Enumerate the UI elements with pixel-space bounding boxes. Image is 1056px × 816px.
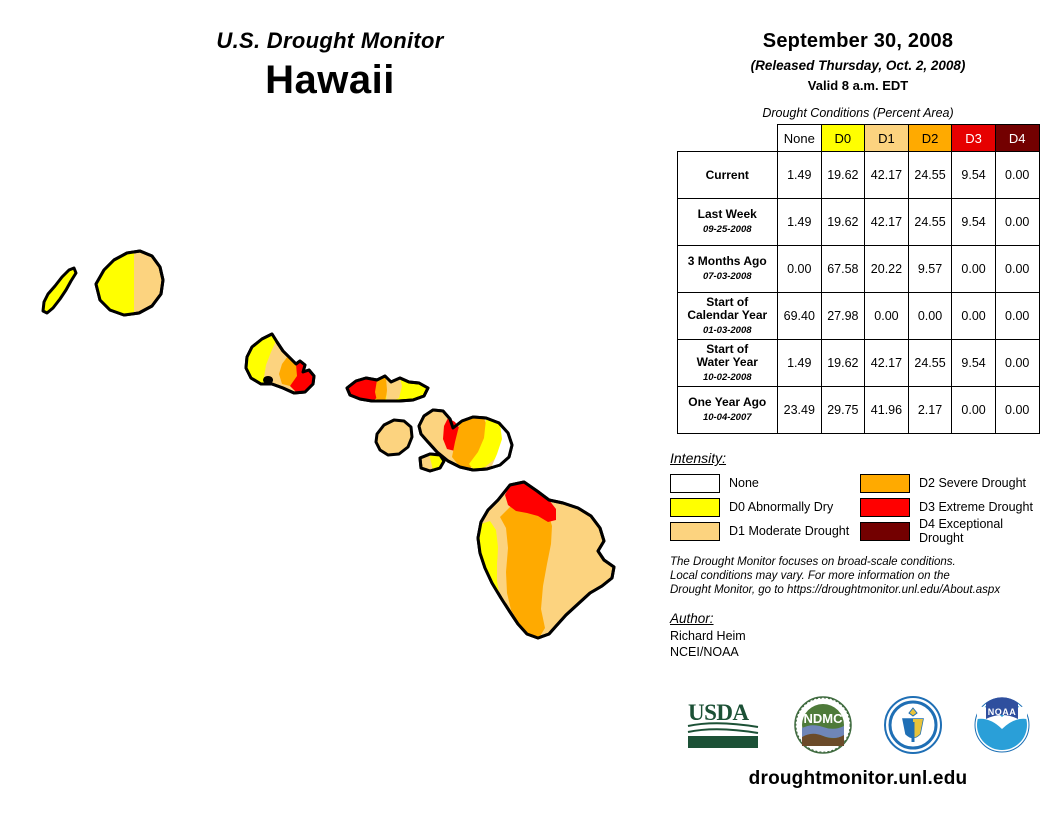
table-row: 3 Months Ago07-03-20080.0067.5820.229.57… [677,246,1039,293]
row-label-date: 09-25-2008 [678,223,778,236]
legend-item-d4: D4 Exceptional Drought [860,517,1050,545]
legend-label: D0 Abnormally Dry [729,500,833,514]
island-niihau [43,268,76,313]
logo-strip: USDA NDMC [660,690,1056,760]
map-panel: U.S. Drought Monitor Hawaii [0,0,660,816]
ndmc-logo: NDMC [794,696,852,754]
note-line-1: The Drought Monitor focuses on broad-sca… [670,555,1056,569]
legend-swatch-d1 [670,522,720,541]
table-caption: Drought Conditions (Percent Area) [660,106,1056,120]
legend-item-none: None [670,474,860,493]
legend-label: D1 Moderate Drought [729,524,849,538]
usda-logo: USDA [686,699,762,751]
table-col-header-d3: D3 [952,125,996,152]
island-oahu [246,334,314,393]
row-label-date: 10-02-2008 [678,371,778,384]
title-block: U.S. Drought Monitor Hawaii [0,28,660,103]
table-cell-d1: 20.22 [865,246,909,293]
note-line-3: Drought Monitor, go to https://droughtmo… [670,583,1056,597]
lanai-d1-area [376,420,412,455]
legend-label: None [729,476,759,490]
usda-bar [688,736,758,748]
row-label-date: 07-03-2008 [678,270,778,283]
table-row-label: One Year Ago10-04-2007 [677,387,778,434]
ndmc-wordmark: NDMC [804,711,844,726]
author-name: Richard Heim [670,628,1056,644]
author-affiliation: NCEI/NOAA [670,644,1056,660]
drought-conditions-table: NoneD0D1D2D3D4 Current1.4919.6242.1724.5… [677,124,1040,434]
niihau-d0-area [43,268,76,313]
table-cell-d3: 9.54 [952,152,996,199]
table-col-header-d0: D0 [821,125,865,152]
site-url: droughtmonitor.unl.edu [660,768,1056,790]
table-cell-d1: 42.17 [865,152,909,199]
molokai-d3-area [347,378,379,401]
legend-label: D4 Exceptional Drought [919,517,1050,545]
release-date: (Released Thursday, Oct. 2, 2008) [660,58,1056,73]
table-header-row: NoneD0D1D2D3D4 [677,125,1039,152]
table-cell-d4: 0.00 [995,340,1039,387]
island-hawaii-big [478,482,614,638]
table-cell-none: 23.49 [778,387,822,434]
table-col-header-d1: D1 [865,125,909,152]
row-label-date: 01-03-2008 [678,324,778,337]
usda-wordmark: USDA [688,700,750,725]
table-row: Start ofWater Year10-02-20081.4919.6242.… [677,340,1039,387]
date-block: September 30, 2008 (Released Thursday, O… [660,0,1056,93]
table-col-header-none: None [778,125,822,152]
table-row-label: Start ofCalendar Year01-03-2008 [677,293,778,340]
table-cell-none: 69.40 [778,293,822,340]
table-corner-cell [677,125,778,152]
table-row: Start ofCalendar Year01-03-200869.4027.9… [677,293,1039,340]
noaa-wordmark: NOAA [988,707,1017,717]
kauai-d0-area [96,252,134,315]
table-cell-d0: 19.62 [821,152,865,199]
island-molokai [347,376,428,401]
legend-item-d0: D0 Abnormally Dry [670,498,860,517]
row-label-text: Current [706,168,749,182]
table-row-label: Current [677,152,778,199]
legend-item-d1: D1 Moderate Drought [670,522,860,541]
table-row: Current1.4919.6242.1724.559.540.00 [677,152,1039,199]
right-panel: September 30, 2008 (Released Thursday, O… [660,0,1056,816]
table-cell-d1: 41.96 [865,387,909,434]
program-title: U.S. Drought Monitor [0,28,660,54]
table-row: Last Week09-25-20081.4919.6242.1724.559.… [677,199,1039,246]
usda-curve-2 [688,729,758,733]
table-cell-d1: 42.17 [865,340,909,387]
drought-conditions-table-wrap: NoneD0D1D2D3D4 Current1.4919.6242.1724.5… [677,124,1040,434]
table-cell-d1: 42.17 [865,199,909,246]
legend-label: D2 Severe Drought [919,476,1026,490]
row-label-text: Start ofCalendar Year [687,295,767,322]
table-cell-d3: 9.54 [952,340,996,387]
row-label-text: One Year Ago [688,395,766,409]
legend-swatch-d3 [860,498,910,517]
state-title: Hawaii [0,58,660,103]
table-body: Current1.4919.6242.1724.559.540.00Last W… [677,152,1039,434]
commerce-logo [884,696,942,754]
table-col-header-d2: D2 [908,125,952,152]
row-label-date: 10-04-2007 [678,411,778,424]
table-cell-d4: 0.00 [995,152,1039,199]
table-row: One Year Ago10-04-200723.4929.7541.962.1… [677,387,1039,434]
legend-swatch-d0 [670,498,720,517]
table-cell-none: 0.00 [778,246,822,293]
table-cell-none: 1.49 [778,152,822,199]
disclaimer-notes: The Drought Monitor focuses on broad-sca… [670,555,1056,597]
table-cell-d4: 0.00 [995,387,1039,434]
table-cell-d3: 0.00 [952,246,996,293]
table-cell-d2: 9.57 [908,246,952,293]
table-cell-d0: 19.62 [821,340,865,387]
table-cell-d0: 19.62 [821,199,865,246]
legend-item-d2: D2 Severe Drought [860,474,1050,493]
table-row-label: Last Week09-25-2008 [677,199,778,246]
table-row-label: 3 Months Ago07-03-2008 [677,246,778,293]
row-label-text: Start ofWater Year [697,342,758,369]
table-cell-d1: 0.00 [865,293,909,340]
row-label-text: 3 Months Ago [688,254,767,268]
table-cell-d0: 67.58 [821,246,865,293]
island-lanai [376,420,412,455]
noaa-logo: NOAA [974,697,1030,753]
table-cell-d3: 0.00 [952,293,996,340]
table-cell-d4: 0.00 [995,246,1039,293]
row-label-text: Last Week [698,207,757,221]
table-col-header-d4: D4 [995,125,1039,152]
table-cell-d2: 24.55 [908,199,952,246]
legend-swatch-d4 [860,522,910,541]
intensity-heading: Intensity: [670,450,1056,466]
table-cell-d2: 0.00 [908,293,952,340]
table-cell-d4: 0.00 [995,199,1039,246]
report-date: September 30, 2008 [660,30,1056,53]
island-kahoolawe [420,454,444,471]
table-cell-d2: 2.17 [908,387,952,434]
author-heading: Author: [670,611,1056,626]
table-cell-none: 1.49 [778,199,822,246]
island-kauai [96,251,163,315]
commerce-mast [912,722,915,742]
table-cell-none: 1.49 [778,340,822,387]
note-line-2: Local conditions may vary. For more info… [670,569,1056,583]
table-cell-d0: 27.98 [821,293,865,340]
table-cell-d2: 24.55 [908,152,952,199]
table-row-label: Start ofWater Year10-02-2008 [677,340,778,387]
legend-label: D3 Extreme Drought [919,500,1033,514]
table-cell-d0: 29.75 [821,387,865,434]
hawaii-drought-map [0,120,660,680]
valid-time: Valid 8 a.m. EDT [660,78,1056,93]
table-cell-d3: 0.00 [952,387,996,434]
table-cell-d4: 0.00 [995,293,1039,340]
table-cell-d2: 24.55 [908,340,952,387]
legend-swatch-none [670,474,720,493]
intensity-legend: NoneD2 Severe DroughtD0 Abnormally DryD3… [670,471,1046,543]
table-cell-d3: 9.54 [952,199,996,246]
legend-item-d3: D3 Extreme Drought [860,498,1050,517]
legend-swatch-d2 [860,474,910,493]
